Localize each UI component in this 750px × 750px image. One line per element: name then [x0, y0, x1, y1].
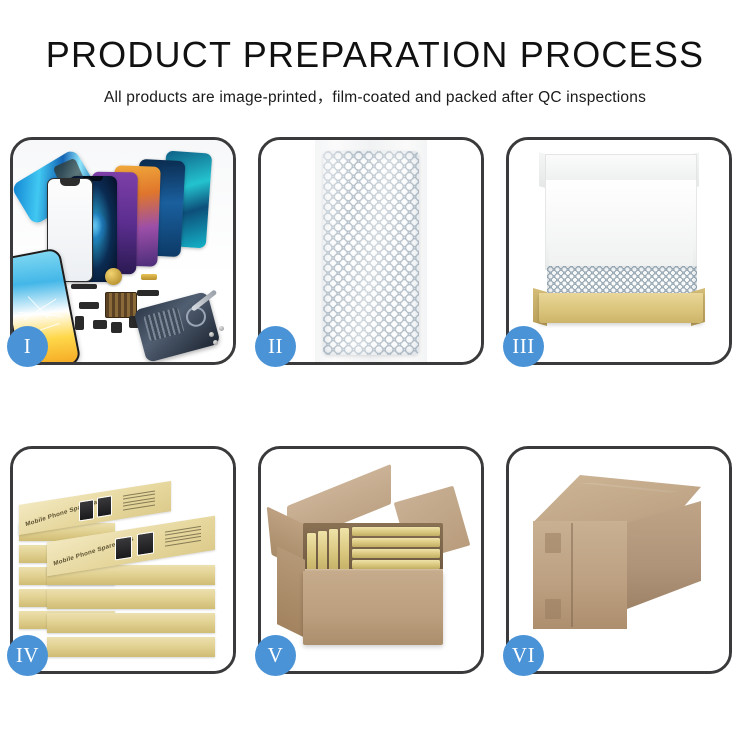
foam-sheet-graphic: [549, 192, 693, 266]
box-product-image: [137, 531, 154, 556]
step-badge-1: I: [7, 326, 48, 367]
carton-seam: [571, 523, 573, 627]
screw-part: [213, 340, 218, 345]
packed-box: [340, 528, 349, 573]
flex-cable-part: [71, 284, 97, 289]
carton-handle-tab: [545, 533, 561, 553]
page-title: PRODUCT PREPARATION PROCESS: [0, 34, 750, 75]
step-badge-3: III: [503, 326, 544, 367]
screw-part: [219, 326, 224, 331]
box-edge: [47, 589, 215, 609]
step-panel-2: II: [258, 137, 484, 365]
screw-part: [209, 332, 214, 337]
packed-box: [307, 533, 316, 573]
packed-boxes-group: [305, 525, 441, 573]
step-badge-2: II: [255, 326, 296, 367]
bubble-wrapped-item: [547, 266, 697, 296]
step-image-5: [261, 449, 481, 671]
speaker-part: [105, 268, 122, 285]
step-panel-5: V: [258, 446, 484, 674]
packed-box: [318, 531, 327, 573]
product-preparation-infographic: PRODUCT PREPARATION PROCESS All products…: [0, 0, 750, 750]
step-panel-1: I: [10, 137, 236, 365]
box-product-image: [97, 495, 112, 517]
step-image-2: [261, 140, 481, 362]
vibrator-part: [111, 322, 122, 333]
packed-box: [352, 538, 440, 547]
packed-box: [329, 529, 338, 573]
packed-box: [352, 527, 440, 536]
bubble-wrap-graphic: [323, 151, 419, 355]
step-badge-6: VI: [503, 635, 544, 676]
step-image-6: [509, 449, 729, 671]
carton-front-panel: [303, 571, 443, 645]
carton-handle-tab: [545, 599, 561, 619]
gold-contact-part: [141, 274, 157, 280]
sheen-overlay: [323, 151, 419, 355]
box-product-image: [79, 499, 94, 521]
carton-side-panel: [277, 546, 305, 638]
box-product-image: [115, 536, 132, 561]
header: PRODUCT PREPARATION PROCESS All products…: [0, 0, 750, 107]
box-stack-graphic: Mobile Phone Spare Parts Mobile Phone Sp…: [19, 467, 231, 657]
crack-line: [19, 312, 63, 317]
step-image-3: [509, 140, 729, 362]
step-badge-4: IV: [7, 635, 48, 676]
camera-part: [93, 320, 107, 329]
steps-grid: I II III: [10, 137, 740, 674]
box-edge: [47, 613, 215, 633]
step-badge-5: V: [255, 635, 296, 676]
antenna-part: [137, 290, 159, 296]
step-panel-6: VI: [506, 446, 732, 674]
packed-box: [352, 560, 440, 569]
step-panel-4: Mobile Phone Spare Parts Mobile Phone Sp…: [10, 446, 236, 674]
box-edge: [47, 637, 215, 657]
page-subtitle: All products are image-printed，film-coat…: [0, 85, 750, 107]
chip-part: [105, 292, 137, 318]
box-lid-back: [545, 154, 697, 182]
button-part: [75, 316, 84, 330]
box-front-panel: [539, 293, 703, 323]
step-image-1: [13, 140, 233, 362]
connector-part: [79, 302, 99, 309]
step-image-4: Mobile Phone Spare Parts Mobile Phone Sp…: [13, 449, 233, 671]
phone-chassis-graphic: [133, 291, 220, 362]
step-panel-3: III: [506, 137, 732, 365]
packed-box: [352, 549, 440, 558]
